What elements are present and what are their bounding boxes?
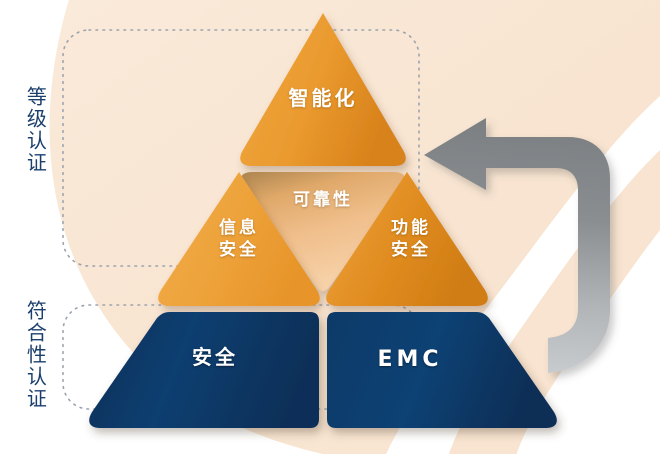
tile-label-functional-safety: 功能 安全 <box>368 218 454 262</box>
pyramid-svg <box>0 0 660 454</box>
tile-label-reliability: 可靠性 <box>263 190 383 212</box>
category-label-level-certification: 等级认证 <box>24 86 44 174</box>
tile-label-intelligence: 智能化 <box>263 86 383 112</box>
tile-label-safety: 安全 <box>160 345 270 371</box>
diagram-canvas: 等级认证 符合性认证 智能化 可靠性 信息 安全 功能 安全 安全 EMC <box>0 0 660 454</box>
tile-label-emc: EMC <box>345 346 475 374</box>
category-label-compliance-certification: 符合性认证 <box>24 300 44 410</box>
tile-label-information-security: 信息 安全 <box>196 218 282 262</box>
